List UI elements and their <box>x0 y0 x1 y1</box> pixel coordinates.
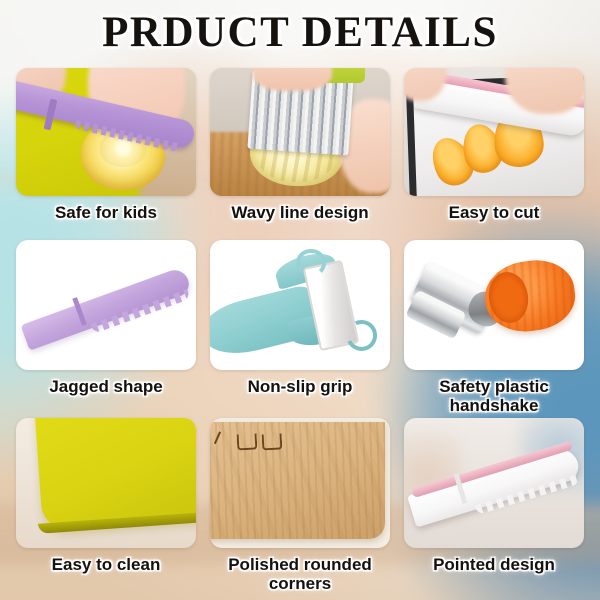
feature-card-wavy-line-design: Wavy line design <box>210 68 390 240</box>
orange-cap-shape <box>481 255 580 337</box>
wood-board-shape <box>210 422 385 539</box>
feature-caption: Wavy line design <box>207 203 393 222</box>
wood-grain-mark <box>262 433 283 450</box>
feature-image-wavy-line-design <box>210 68 390 196</box>
feature-caption: Polished rounded corners <box>207 555 393 593</box>
product-details-infographic: PRDUCT DETAILS Safe for kids <box>0 0 600 600</box>
feature-caption: Jagged shape <box>13 377 199 396</box>
feature-caption: Easy to cut <box>401 203 587 222</box>
feature-caption: Non-slip grip <box>207 377 393 396</box>
wood-grain-mark <box>210 427 221 444</box>
peeler-hook-shape <box>296 249 326 277</box>
feature-image-safety-plastic-handshake <box>404 240 584 370</box>
feature-card-easy-to-cut: Easy to cut <box>404 68 584 240</box>
feature-image-safe-for-kids <box>16 68 196 196</box>
wood-grain-mark <box>237 433 258 450</box>
feature-card-easy-to-clean: Easy to clean <box>16 418 196 596</box>
feature-grid: Safe for kids Wavy line design <box>16 68 584 596</box>
page-title: PRDUCT DETAILS <box>0 8 600 57</box>
feature-card-non-slip-grip: Non-slip grip <box>210 240 390 418</box>
feature-card-safe-for-kids: Safe for kids <box>16 68 196 240</box>
feature-caption: Easy to clean <box>13 555 199 574</box>
feature-caption: Pointed design <box>401 555 587 574</box>
purple-knife-shape <box>20 266 192 351</box>
feature-card-polished-rounded-corners: Polished rounded corners <box>210 418 390 596</box>
feature-image-pointed-design <box>404 418 584 548</box>
feature-image-easy-to-clean <box>16 418 196 548</box>
feature-image-jagged-shape <box>16 240 196 370</box>
feature-card-safety-plastic-handshake: Safety plastic handshake <box>404 240 584 418</box>
feature-caption: Safety plastic handshake <box>401 377 587 415</box>
feature-card-pointed-design: Pointed design <box>404 418 584 596</box>
feature-card-jagged-shape: Jagged shape <box>16 240 196 418</box>
feature-image-non-slip-grip <box>210 240 390 370</box>
feature-image-easy-to-cut <box>404 68 584 196</box>
feature-image-polished-rounded-corners <box>210 418 390 548</box>
feature-caption: Safe for kids <box>13 203 199 222</box>
